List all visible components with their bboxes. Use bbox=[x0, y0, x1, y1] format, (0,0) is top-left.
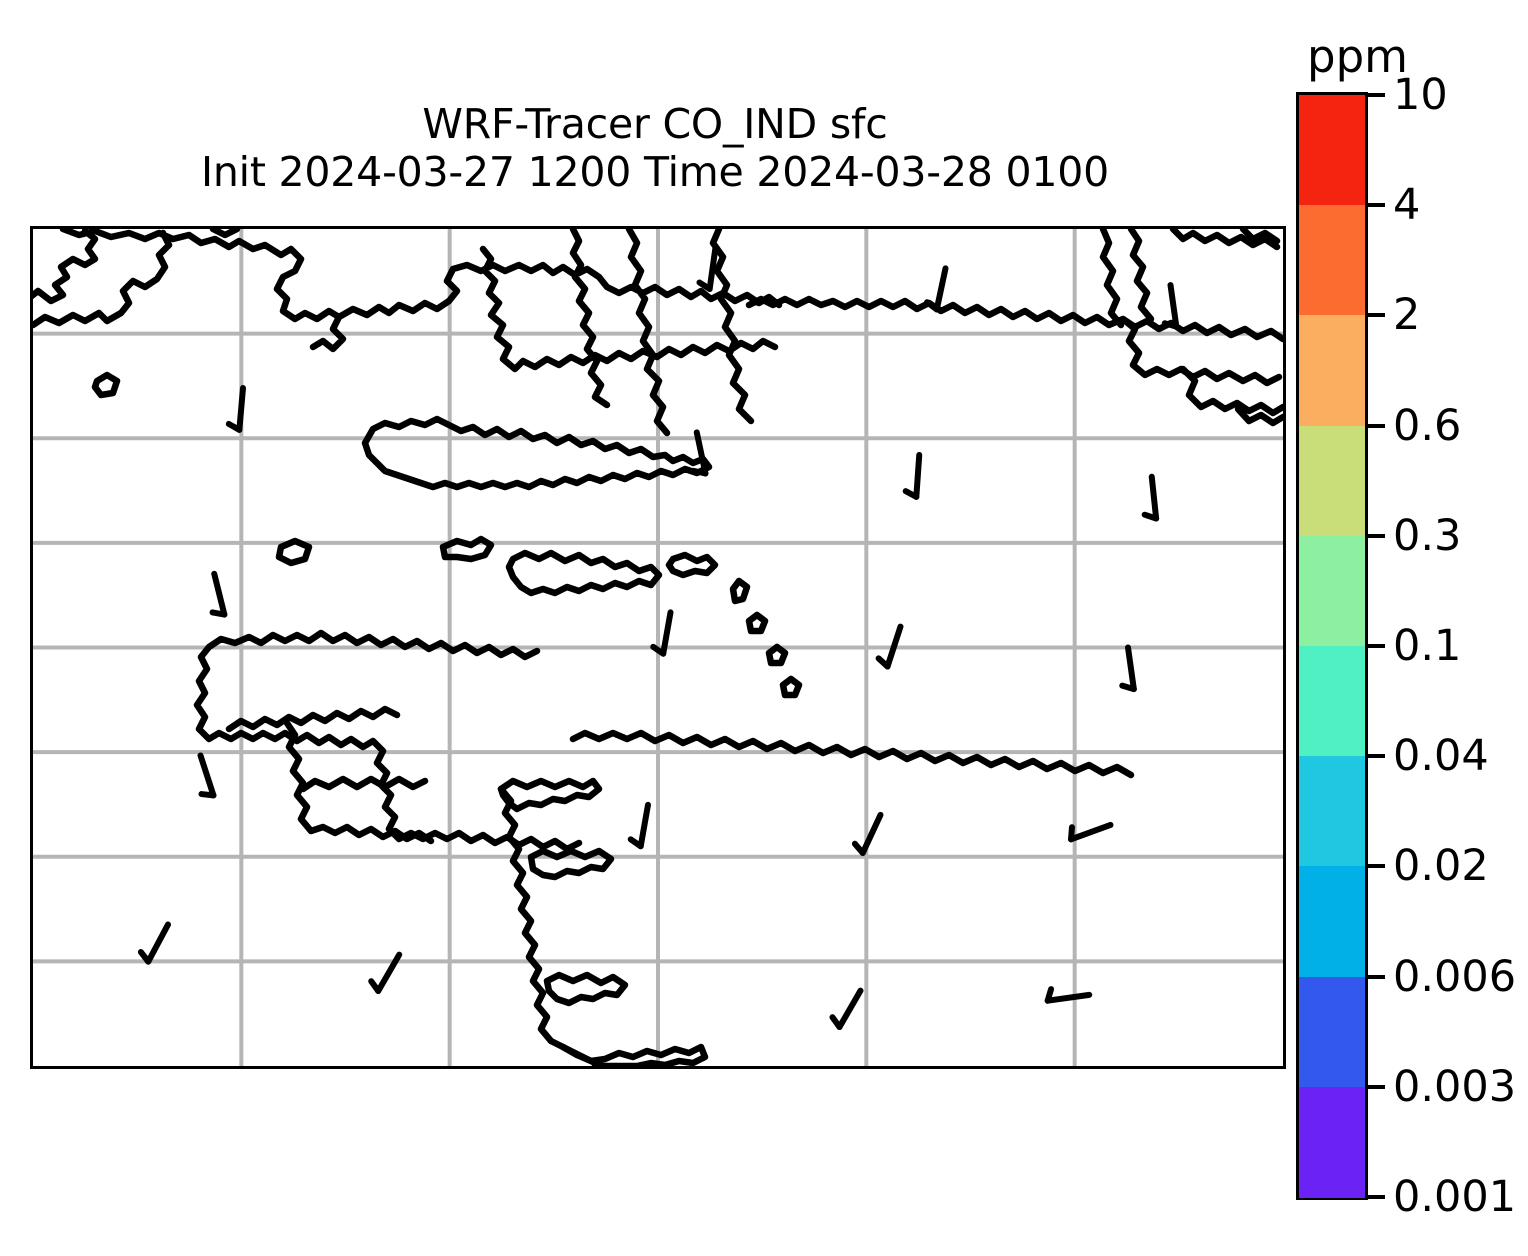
wind-barb-shaft bbox=[378, 955, 399, 991]
wind-barb-shaft bbox=[1128, 648, 1134, 690]
colorbar-segment bbox=[1299, 1087, 1365, 1198]
wind-barb bbox=[1046, 984, 1089, 1001]
colorbar-tick-mark bbox=[1368, 1195, 1385, 1199]
wind-barb bbox=[630, 803, 648, 846]
colorbar-tick-label: 0.04 bbox=[1393, 731, 1489, 781]
wind-barb bbox=[853, 810, 881, 853]
colorbar-segment bbox=[1299, 866, 1365, 977]
colorbar-tick-mark bbox=[1368, 313, 1385, 317]
figure-canvas: WRF-Tracer CO_IND sfc Init 2024-03-27 12… bbox=[0, 0, 1528, 1256]
wind-barb bbox=[204, 574, 225, 617]
colorbar-tick-labels: 10420.60.30.10.040.020.0060.0030.001 bbox=[1368, 92, 1528, 1200]
colorbar-tick-mark bbox=[1368, 534, 1385, 538]
colorbar-tick-mark bbox=[1368, 93, 1385, 97]
wind-barb-shaft bbox=[937, 268, 946, 309]
map-plot-area bbox=[30, 226, 1286, 1069]
wind-barb bbox=[228, 387, 243, 430]
colorbar-segment bbox=[1299, 756, 1365, 867]
colorbar-tick-label: 0.6 bbox=[1393, 401, 1461, 451]
wind-barb-shaft bbox=[1171, 285, 1177, 327]
colorbar-segment bbox=[1299, 646, 1365, 757]
colorbar-tick-label: 0.003 bbox=[1393, 1062, 1516, 1112]
wind-barb-shaft bbox=[697, 432, 706, 473]
colorbar bbox=[1296, 92, 1368, 1200]
colorbar-tick-label: 0.1 bbox=[1393, 621, 1461, 671]
chart-title-block: WRF-Tracer CO_IND sfc Init 2024-03-27 12… bbox=[30, 100, 1280, 197]
wind-barb bbox=[905, 454, 919, 497]
wind-barb-shaft bbox=[1048, 995, 1090, 1001]
wind-barb bbox=[1141, 477, 1156, 520]
colorbar-tick-label: 0.3 bbox=[1393, 511, 1461, 561]
colorbar-segment bbox=[1299, 205, 1365, 316]
wind-barb-shaft bbox=[641, 805, 648, 846]
chart-title-line-1: WRF-Tracer CO_IND sfc bbox=[30, 100, 1280, 148]
wind-barb bbox=[877, 623, 900, 666]
wind-barb-shaft bbox=[663, 612, 670, 653]
colorbar-segment bbox=[1299, 426, 1365, 537]
wind-barb-shaft bbox=[214, 574, 224, 615]
colorbar-segment bbox=[1299, 95, 1365, 206]
colorbar-tick-label: 2 bbox=[1393, 290, 1420, 340]
colorbar-tick-label: 0.001 bbox=[1393, 1172, 1516, 1222]
wind-barb-shaft bbox=[888, 627, 901, 667]
wind-barb-shaft bbox=[916, 455, 919, 497]
wind-barb-shaft bbox=[1071, 825, 1110, 839]
wind-barb-shaft bbox=[710, 247, 716, 289]
colorbar-tick-mark bbox=[1368, 754, 1385, 758]
colorbar-tick-mark bbox=[1368, 1085, 1385, 1089]
wind-barb-shaft bbox=[840, 991, 861, 1027]
wind-barb bbox=[1117, 648, 1134, 691]
map-inner-clip bbox=[33, 229, 1283, 1066]
wind-barb bbox=[139, 919, 168, 961]
colorbar-tick-label: 4 bbox=[1393, 180, 1420, 230]
wind-barb bbox=[369, 949, 400, 991]
wind-barb-shaft bbox=[239, 388, 243, 430]
wind-barb-shaft bbox=[1152, 477, 1156, 519]
wind-barb bbox=[1067, 815, 1110, 840]
chart-title-line-2: Init 2024-03-27 1200 Time 2024-03-28 010… bbox=[30, 148, 1280, 196]
wind-barb bbox=[686, 432, 705, 475]
wind-barb-shaft bbox=[863, 815, 881, 853]
colorbar-segment bbox=[1299, 315, 1365, 426]
wind-barb bbox=[699, 246, 716, 289]
wind-barb bbox=[190, 755, 213, 798]
wind-barb bbox=[1160, 285, 1177, 328]
colorbar-tick-label: 0.006 bbox=[1393, 952, 1516, 1002]
colorbar-segment bbox=[1299, 536, 1365, 647]
wind-barbs-layer bbox=[33, 229, 1283, 1066]
colorbar-tick-mark bbox=[1368, 975, 1385, 979]
colorbar-tick-mark bbox=[1368, 203, 1385, 207]
colorbar-tick-mark bbox=[1368, 864, 1385, 868]
colorbar-tick-mark bbox=[1368, 644, 1385, 648]
wind-barb bbox=[830, 985, 861, 1027]
colorbar-tick-mark bbox=[1368, 424, 1385, 428]
colorbar-tick-label: 0.02 bbox=[1393, 841, 1489, 891]
wind-barb bbox=[652, 610, 670, 653]
colorbar-segment bbox=[1299, 977, 1365, 1088]
wind-barb bbox=[926, 266, 945, 309]
colorbar-tick-label: 10 bbox=[1393, 70, 1448, 120]
wind-barb-shaft bbox=[201, 755, 214, 795]
wind-barb-shaft bbox=[148, 925, 168, 962]
